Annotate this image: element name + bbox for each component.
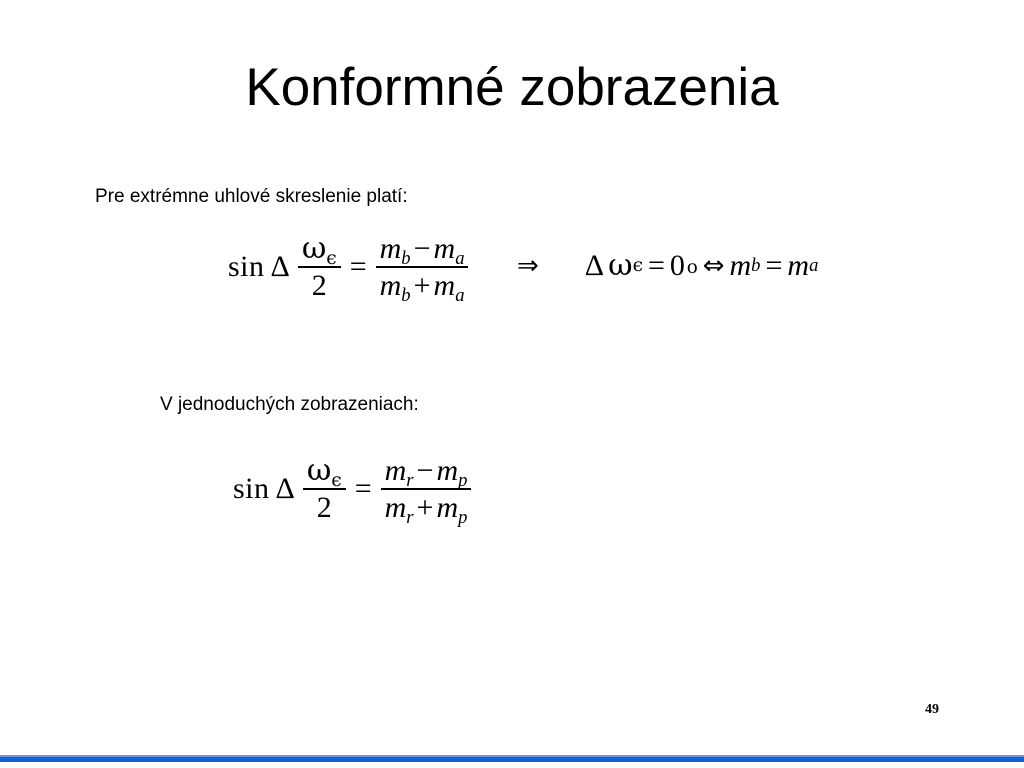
omega-symbol: ω bbox=[608, 248, 632, 283]
delta-symbol: Δ bbox=[271, 250, 294, 284]
equals-sign: = bbox=[760, 249, 787, 283]
epsilon-subscript: ϵ bbox=[326, 248, 336, 269]
formula-simple-projections: sin Δ ωϵ 2 = mr−mp mr+mp bbox=[233, 455, 475, 524]
slide-title: Konformné zobrazenia bbox=[0, 58, 1024, 117]
m-variable: m bbox=[730, 249, 752, 283]
subscript-p: p bbox=[458, 470, 467, 491]
sin-operator: sin bbox=[233, 472, 276, 506]
body-text-line-1: Pre extrémne uhlové skreslenie platí: bbox=[95, 186, 408, 208]
m-variable: m bbox=[436, 491, 458, 524]
fraction-denominator: mr+mp bbox=[381, 490, 472, 524]
plus-sign: + bbox=[411, 270, 434, 302]
subscript-r: r bbox=[406, 470, 413, 491]
iff-arrow-icon: ⇔ bbox=[698, 251, 730, 281]
body-text-line-2: V jednoduchých zobrazeniach: bbox=[160, 394, 419, 416]
subscript-b: b bbox=[401, 248, 410, 269]
fraction-scale-ratio: mb−ma mb+ma bbox=[376, 233, 469, 302]
delta-symbol: Δ bbox=[276, 472, 299, 506]
subscript-p: p bbox=[458, 507, 467, 528]
m-variable: m bbox=[787, 249, 809, 283]
sin-operator: sin bbox=[228, 250, 271, 284]
fraction-denominator: 2 bbox=[308, 268, 331, 302]
subscript-b: b bbox=[401, 285, 410, 306]
subscript-a: a bbox=[455, 248, 464, 269]
presentation-slide: Konformné zobrazenia Pre extrémne uhlové… bbox=[0, 0, 1024, 768]
delta-symbol: Δ bbox=[585, 249, 608, 283]
fraction-denominator: 2 bbox=[313, 490, 336, 524]
fraction-numerator: mb−ma bbox=[376, 233, 469, 268]
page-number: 49 bbox=[925, 702, 939, 718]
formula-angular-distortion: sin Δ ωϵ 2 = mb−ma mb+ma bbox=[228, 233, 472, 302]
fraction-omega-over-two: ωϵ 2 bbox=[298, 233, 341, 302]
plus-sign: + bbox=[414, 492, 437, 524]
minus-sign: − bbox=[411, 233, 434, 265]
subscript-a: a bbox=[455, 285, 464, 306]
fraction-numerator: ωϵ bbox=[298, 233, 341, 268]
fraction-numerator: mr−mp bbox=[381, 455, 472, 490]
zero-value: 0 bbox=[670, 249, 685, 283]
m-variable: m bbox=[385, 491, 407, 524]
minus-sign: − bbox=[414, 455, 437, 487]
fraction-denominator: mb+ma bbox=[376, 268, 469, 302]
fraction-scale-ratio: mr−mp mr+mp bbox=[381, 455, 472, 524]
equals-sign: = bbox=[643, 249, 670, 283]
formula-conformal-condition: ⇒ Δ ωϵ = 0o ⇔ mb = ma bbox=[517, 248, 818, 283]
equals-sign: = bbox=[345, 250, 372, 284]
m-variable: m bbox=[380, 232, 402, 265]
m-variable: m bbox=[380, 269, 402, 302]
m-variable: m bbox=[434, 232, 456, 265]
omega-symbol: ω bbox=[302, 231, 326, 266]
footer-rule-accent bbox=[0, 757, 1024, 762]
fraction-numerator: ωϵ bbox=[303, 455, 346, 490]
m-variable: m bbox=[436, 454, 458, 487]
omega-symbol: ω bbox=[307, 453, 331, 488]
epsilon-subscript: ϵ bbox=[331, 470, 341, 491]
m-variable: m bbox=[434, 269, 456, 302]
implies-arrow-icon: ⇒ bbox=[517, 251, 539, 281]
subscript-r: r bbox=[406, 507, 413, 528]
equals-sign: = bbox=[350, 472, 377, 506]
fraction-omega-over-two: ωϵ 2 bbox=[303, 455, 346, 524]
m-variable: m bbox=[385, 454, 407, 487]
